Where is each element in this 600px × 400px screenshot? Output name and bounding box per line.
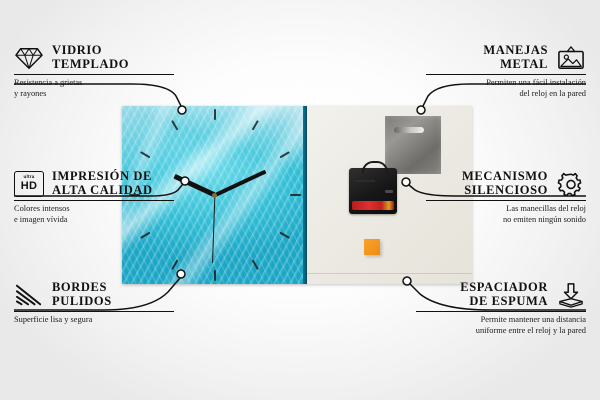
diamond-icon bbox=[14, 45, 44, 71]
battery bbox=[352, 201, 394, 210]
feature-header: VIDRIO TEMPLADO bbox=[14, 44, 174, 71]
mechanism-label bbox=[385, 190, 393, 193]
feature-header: MANEJAS METAL bbox=[426, 44, 586, 71]
description-line: del reloj en la pared bbox=[426, 89, 586, 100]
feature-title: IMPRESIÓN DE ALTA CALIDAD bbox=[52, 170, 153, 197]
feature-header: ESPACIADOR DE ESPUMA bbox=[416, 281, 586, 308]
hd-badge: ultra HD bbox=[14, 171, 44, 197]
feature-description: Permiten una fácil instalación del reloj… bbox=[426, 78, 586, 99]
description-line: no emiten ningún sonido bbox=[426, 215, 586, 226]
title-rule bbox=[14, 200, 174, 201]
feature-bordes-pulidos: BORDES PULIDOS Superficie lisa y segura bbox=[14, 281, 174, 326]
foam-spacer-icon bbox=[556, 282, 586, 308]
feature-header: BORDES PULIDOS bbox=[14, 281, 174, 308]
description-line: Resistencia a grietas bbox=[14, 78, 174, 89]
title-rule bbox=[14, 74, 174, 75]
feature-title: VIDRIO TEMPLADO bbox=[52, 44, 129, 71]
product-infographic: VIDRIO TEMPLADO Resistencia a grietas y … bbox=[0, 0, 600, 400]
hour-tick bbox=[214, 109, 216, 195]
clock-center-cap bbox=[212, 193, 217, 198]
title-rule bbox=[426, 74, 586, 75]
description-line: uniforme entre el reloj y la pared bbox=[416, 326, 586, 337]
feature-description: Permite mantener una distancia uniforme … bbox=[416, 315, 586, 336]
title-rule bbox=[14, 311, 174, 312]
picture-frame-hanger-icon bbox=[556, 45, 586, 71]
hour-tick bbox=[215, 194, 301, 196]
feature-mecanismo-silencioso: MECANISMO SILENCIOSO Las manecillas del … bbox=[426, 170, 586, 225]
description-line: Las manecillas del reloj bbox=[426, 204, 586, 215]
description-line: Permiten una fácil instalación bbox=[426, 78, 586, 89]
description-line: Superficie lisa y segura bbox=[14, 315, 174, 326]
feature-impresion-alta-calidad: ultra HD IMPRESIÓN DE ALTA CALIDAD Color… bbox=[14, 170, 174, 225]
ultra-hd-icon: ultra HD bbox=[14, 171, 44, 197]
feature-espaciador-de-espuma: ESPACIADOR DE ESPUMA Permite mantener un… bbox=[416, 281, 586, 336]
feature-title: ESPACIADOR DE ESPUMA bbox=[460, 281, 548, 308]
mechanism-detail bbox=[355, 180, 375, 182]
description-line: Colores intensos bbox=[14, 204, 174, 215]
feature-header: MECANISMO SILENCIOSO bbox=[426, 170, 586, 197]
gear-icon bbox=[556, 171, 586, 197]
product-photo bbox=[122, 106, 472, 288]
feature-title: BORDES PULIDOS bbox=[52, 281, 112, 308]
panel-base-line bbox=[307, 273, 472, 274]
feature-description: Las manecillas del reloj no emiten ningú… bbox=[426, 204, 586, 225]
feature-title: MANEJAS METAL bbox=[483, 44, 548, 71]
feature-description: Colores intensos e imagen vívida bbox=[14, 204, 174, 225]
polished-edge-icon bbox=[14, 282, 44, 308]
title-rule bbox=[426, 200, 586, 201]
metal-hanger-plate bbox=[385, 116, 441, 174]
mechanism-hanging-loop bbox=[362, 161, 388, 173]
description-line: e imagen vívida bbox=[14, 215, 174, 226]
foam-spacer bbox=[364, 239, 380, 255]
feature-vidrio-templado: VIDRIO TEMPLADO Resistencia a grietas y … bbox=[14, 44, 174, 99]
title-rule bbox=[416, 311, 586, 312]
feature-title: MECANISMO SILENCIOSO bbox=[462, 170, 548, 197]
description-line: Permite mantener una distancia bbox=[416, 315, 586, 326]
feature-description: Superficie lisa y segura bbox=[14, 315, 174, 326]
clock-mechanism bbox=[349, 168, 397, 214]
hanger-slot bbox=[394, 127, 424, 133]
feature-manejas-metal: MANEJAS METAL Permiten una fácil instala… bbox=[426, 44, 586, 99]
feature-header: ultra HD IMPRESIÓN DE ALTA CALIDAD bbox=[14, 170, 174, 197]
feature-description: Resistencia a grietas y rayones bbox=[14, 78, 174, 99]
description-line: y rayones bbox=[14, 89, 174, 100]
